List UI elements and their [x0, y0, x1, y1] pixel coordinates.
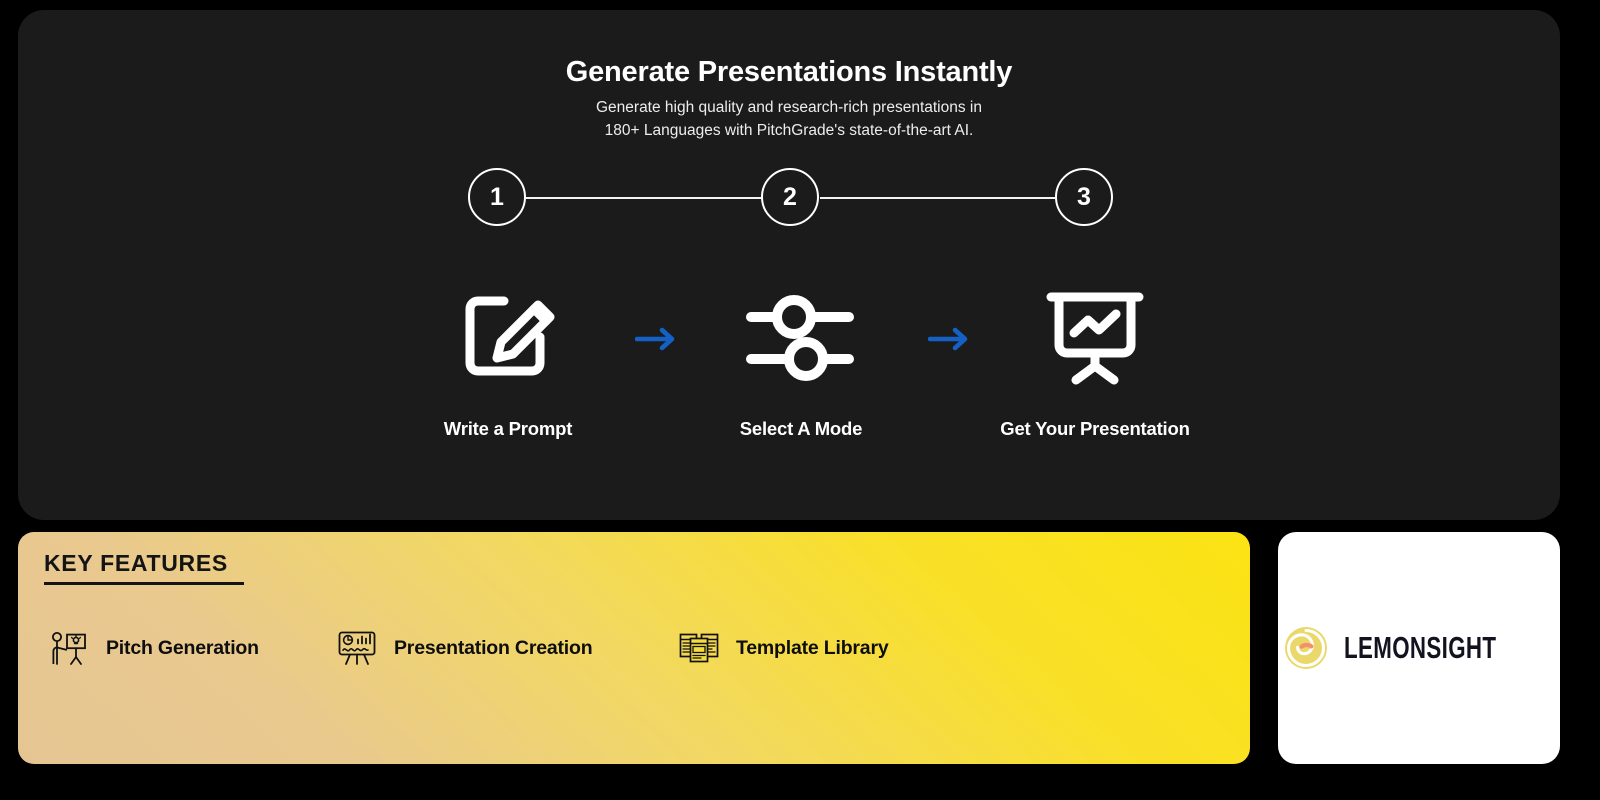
hero-subtitle-line-2: 180+ Languages with PitchGrade's state-o… — [18, 119, 1560, 142]
hero-subtitle-line-1: Generate high quality and research-rich … — [18, 96, 1560, 119]
rail-connector-1 — [526, 197, 762, 199]
feature-item-pitch-generation[interactable]: Pitch Generation — [46, 620, 259, 676]
feature-list: Pitch Generation Presentation Creation — [18, 620, 1250, 676]
template-cards-stack-icon — [676, 625, 722, 671]
arrow-right-icon-1 — [626, 322, 686, 356]
step-node-1[interactable]: 1 — [468, 168, 526, 226]
brand-logo-card: LEMONSIGHT — [1278, 532, 1560, 764]
presenter-board-idea-icon — [46, 625, 92, 671]
sliders-settings-icon — [741, 278, 861, 396]
hero-subtitle: Generate high quality and research-rich … — [18, 96, 1560, 142]
step-icon-row — [398, 278, 1188, 398]
lemon-swirl-logo-icon — [1282, 624, 1330, 672]
step-label-2: Select A Mode — [651, 418, 951, 440]
feature-label-2: Presentation Creation — [394, 637, 592, 660]
easel-chart-icon — [334, 625, 380, 671]
step-node-2[interactable]: 2 — [761, 168, 819, 226]
key-features-underline — [44, 582, 244, 585]
rail-connector-2 — [820, 197, 1056, 199]
page-title: Generate Presentations Instantly — [18, 56, 1560, 89]
arrow-right-icon-2 — [919, 322, 979, 356]
brand-wordmark: LEMONSIGHT — [1344, 630, 1496, 666]
step-node-3[interactable]: 3 — [1055, 168, 1113, 226]
hero-card: Generate Presentations Instantly Generat… — [18, 10, 1560, 520]
key-features-heading: KEY FEATURES — [44, 550, 228, 577]
step-label-row: Write a Prompt Select A Mode Get Your Pr… — [398, 418, 1188, 448]
poster-root: Generate Presentations Instantly Generat… — [0, 0, 1600, 800]
key-features-panel: KEY FEATURES — [18, 532, 1250, 764]
step-label-3: Get Your Presentation — [945, 418, 1245, 440]
feature-label-3: Template Library — [736, 637, 889, 660]
feature-label-1: Pitch Generation — [106, 637, 259, 660]
feature-item-template-library[interactable]: Template Library — [676, 620, 889, 676]
feature-item-presentation-creation[interactable]: Presentation Creation — [334, 620, 592, 676]
compose-pencil-square-icon — [448, 278, 568, 396]
step-label-1: Write a Prompt — [358, 418, 658, 440]
step-progress-rail: 1 2 3 — [468, 168, 1108, 228]
presentation-board-chart-icon — [1035, 278, 1155, 396]
